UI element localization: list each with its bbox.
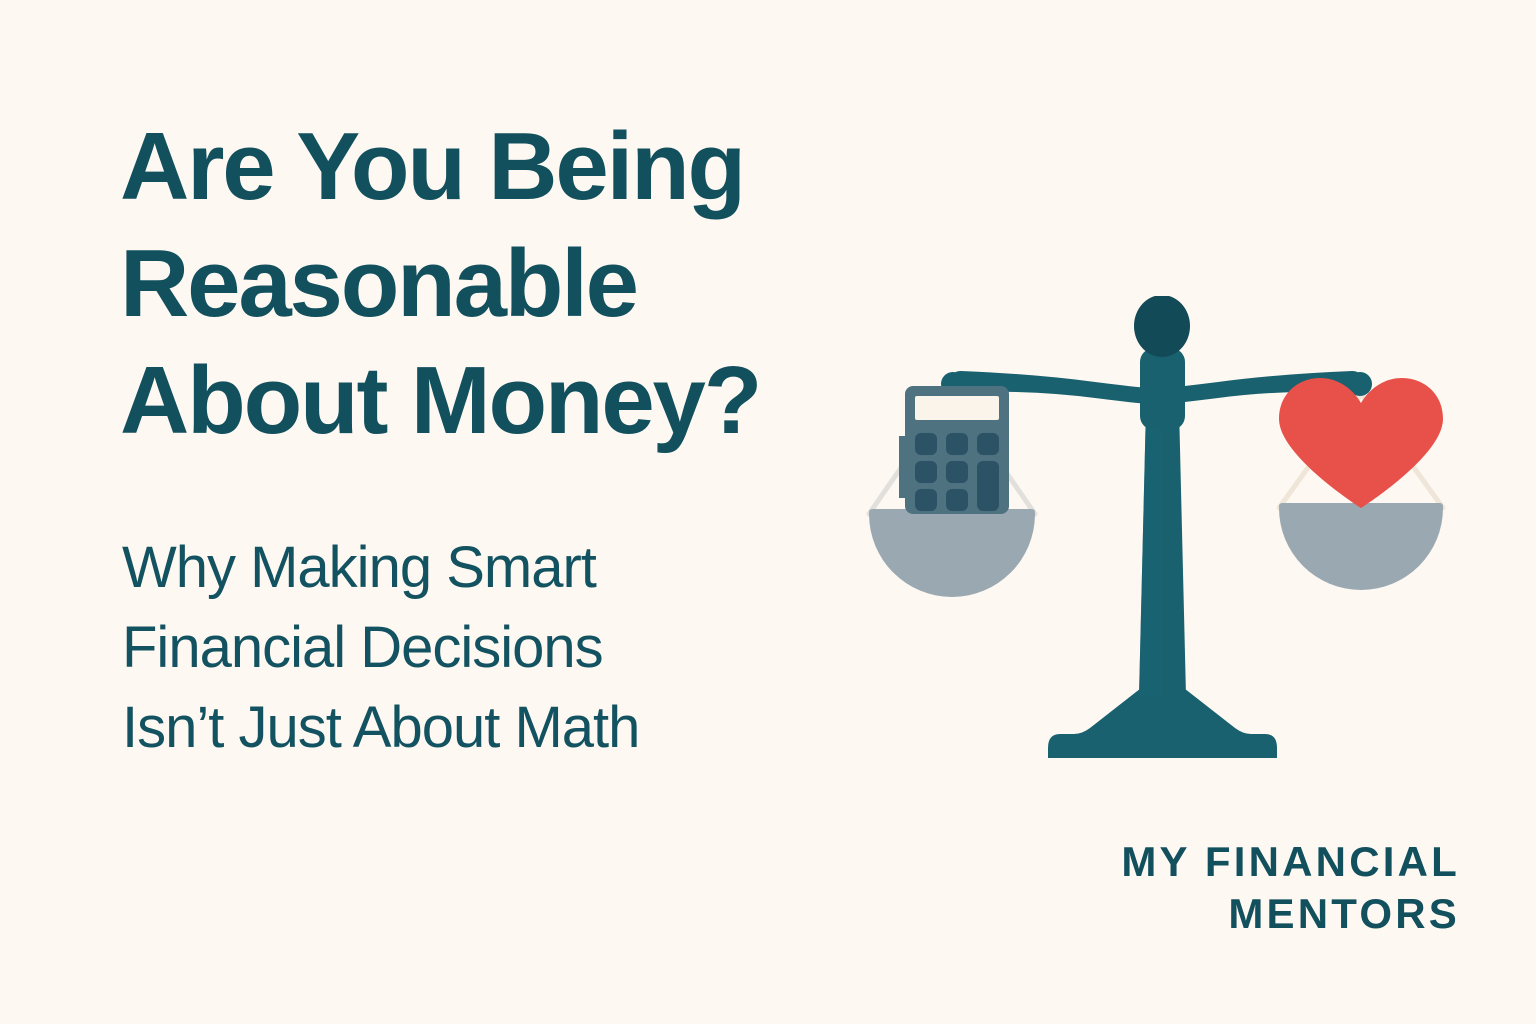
brand-logo-line-1: MY FINANCIAL [940, 836, 1460, 888]
brand-logo: MY FINANCIAL MENTORS [940, 836, 1460, 940]
scale-finial [1134, 296, 1190, 357]
right-pan [1279, 503, 1443, 590]
balance-scale-illustration [845, 296, 1475, 776]
text-block: Are You Being Reasonable About Money? Wh… [120, 108, 860, 459]
page-title: Are You Being Reasonable About Money? [120, 108, 860, 459]
page-subtitle: Why Making Smart Financial Decisions Isn… [122, 528, 639, 768]
calculator-icon [899, 386, 1009, 514]
left-pan [869, 509, 1035, 597]
balance-scale-svg [845, 296, 1475, 776]
poster-canvas: Are You Being Reasonable About Money? Wh… [0, 0, 1536, 1024]
brand-logo-line-2: MENTORS [940, 888, 1460, 940]
